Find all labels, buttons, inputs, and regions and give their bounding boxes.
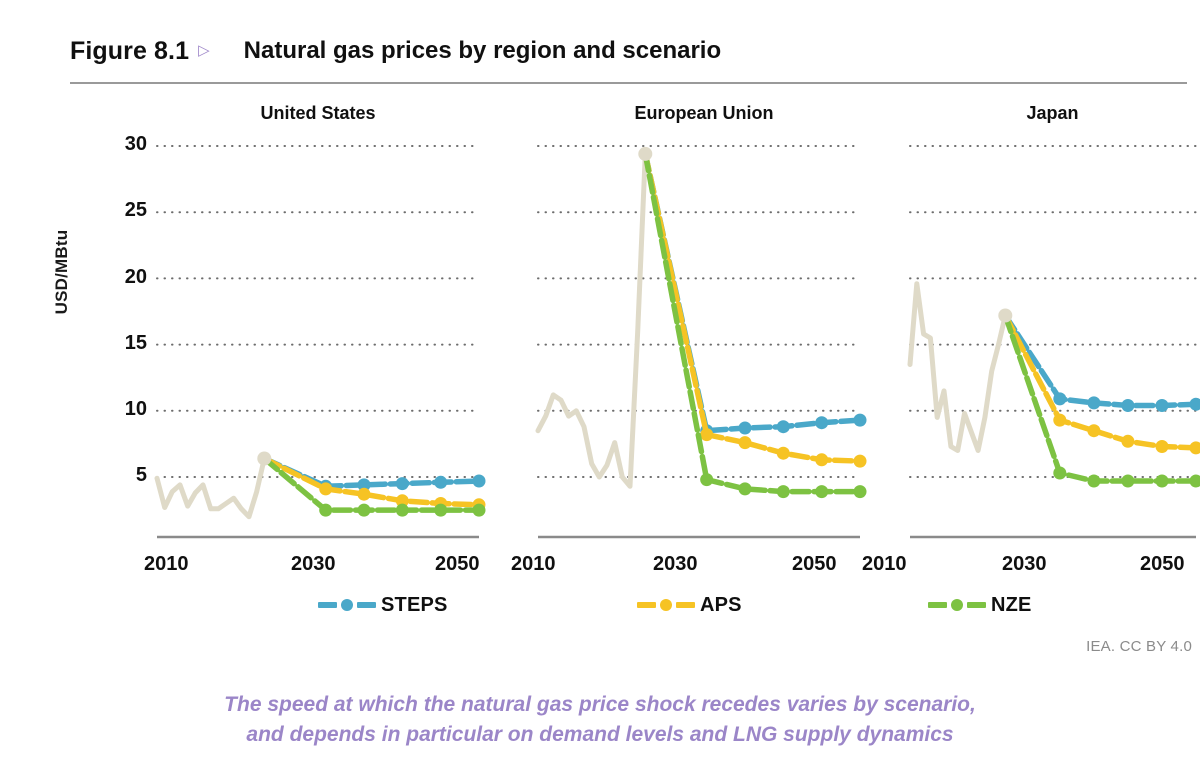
- marker-nze-2030: [319, 504, 332, 517]
- marker-steps-2040: [1121, 399, 1134, 412]
- marker-steps-2050: [1190, 398, 1200, 411]
- series-line-aps: [645, 154, 860, 461]
- caption-line-2: and depends in particular on demand leve…: [0, 720, 1200, 750]
- marker-nze-2040: [1121, 475, 1134, 488]
- marker-aps-2035: [739, 436, 752, 449]
- series-line-historical: [538, 154, 645, 486]
- marker-nze-2030: [1053, 467, 1066, 480]
- figure-caption: The speed at which the natural gas price…: [0, 690, 1200, 751]
- y-tick-15: 15: [101, 332, 147, 355]
- marker-nze-2035: [1087, 475, 1100, 488]
- y-tick-5: 5: [101, 464, 147, 487]
- y-axis-label: USD/MBtu: [52, 192, 72, 352]
- marker-nze-2035: [739, 482, 752, 495]
- marker-historical-2022: [638, 147, 652, 161]
- attribution-text: IEA. CC BY 4.0: [1086, 638, 1192, 655]
- marker-steps-2050: [473, 475, 486, 488]
- legend-swatch-nze: [928, 596, 986, 614]
- x-tick-eu-2050: 2050: [792, 553, 837, 576]
- series-line-steps: [264, 459, 479, 487]
- legend-item-nze[interactable]: NZE: [928, 590, 1032, 620]
- figure-root: Figure 8.1 ▷ Natural gas prices by regio…: [0, 0, 1200, 776]
- marker-nze-2040: [777, 485, 790, 498]
- legend-swatch-steps: [318, 596, 376, 614]
- marker-aps-2045: [1156, 440, 1169, 453]
- figure-title: Natural gas prices by region and scenari…: [244, 37, 722, 65]
- marker-steps-2045: [815, 416, 828, 429]
- marker-steps-2040: [777, 420, 790, 433]
- marker-aps-2050: [1190, 441, 1200, 454]
- panel-title-japan: Japan: [910, 103, 1195, 124]
- x-tick-us-2030: 2030: [291, 553, 336, 576]
- marker-steps-2050: [854, 414, 867, 427]
- marker-aps-2030: [319, 482, 332, 495]
- marker-steps-2030: [1053, 392, 1066, 405]
- marker-steps-2035: [1087, 396, 1100, 409]
- marker-aps-2045: [434, 497, 447, 510]
- marker-steps-2035: [358, 478, 371, 491]
- series-line-nze: [645, 154, 860, 492]
- series-line-historical: [157, 459, 264, 517]
- marker-historical-2022: [998, 309, 1012, 323]
- marker-aps-2050: [854, 455, 867, 468]
- y-tick-20: 20: [101, 266, 147, 289]
- marker-nze-2050: [473, 504, 486, 517]
- y-tick-10: 10: [101, 398, 147, 421]
- marker-nze-2045: [434, 504, 447, 517]
- marker-nze-2050: [1190, 475, 1200, 488]
- marker-aps-2030: [1053, 414, 1066, 427]
- marker-aps-2040: [1121, 435, 1134, 448]
- marker-steps-2040: [396, 477, 409, 490]
- panel-1: [157, 146, 486, 537]
- x-tick-jp-2050: 2050: [1140, 553, 1185, 576]
- panel-2: [538, 146, 867, 537]
- marker-aps-2040: [396, 494, 409, 507]
- marker-nze-2040: [396, 504, 409, 517]
- legend-label-aps: APS: [700, 594, 742, 617]
- marker-historical-2022: [257, 452, 271, 466]
- caption-line-1: The speed at which the natural gas price…: [0, 690, 1200, 720]
- legend-label-nze: NZE: [991, 594, 1032, 617]
- marker-aps-2040: [777, 447, 790, 460]
- series-line-aps: [1005, 316, 1196, 448]
- marker-aps-2030: [700, 428, 713, 441]
- legend-item-steps[interactable]: STEPS: [318, 590, 448, 620]
- marker-steps-2045: [1156, 399, 1169, 412]
- x-tick-us-2010: 2010: [144, 553, 189, 576]
- marker-nze-2045: [815, 485, 828, 498]
- y-tick-25: 25: [101, 199, 147, 222]
- triangle-right-icon: ▷: [198, 43, 210, 58]
- y-tick-30: 30: [101, 133, 147, 156]
- x-tick-eu-2030: 2030: [653, 553, 698, 576]
- series-line-nze: [1005, 316, 1196, 482]
- legend-swatch-aps: [637, 596, 695, 614]
- marker-nze-2030: [700, 473, 713, 486]
- header-divider: [70, 82, 1187, 84]
- marker-aps-2035: [1087, 424, 1100, 437]
- panel-title-united-states: United States: [157, 103, 479, 124]
- marker-steps-2035: [739, 422, 752, 435]
- legend-item-aps[interactable]: APS: [637, 590, 742, 620]
- x-tick-jp-2030: 2030: [1002, 553, 1047, 576]
- marker-aps-2045: [815, 453, 828, 466]
- x-tick-eu-2010: 2010: [511, 553, 556, 576]
- series-line-nze: [264, 459, 479, 511]
- series-line-steps: [1005, 316, 1196, 406]
- marker-steps-2030: [700, 424, 713, 437]
- marker-aps-2035: [358, 488, 371, 501]
- panel-3: [910, 146, 1200, 537]
- chart-legend: STEPS APS NZE: [0, 590, 1200, 620]
- marker-nze-2035: [358, 504, 371, 517]
- legend-label-steps: STEPS: [381, 594, 448, 617]
- marker-aps-2050: [473, 498, 486, 511]
- marker-steps-2045: [434, 476, 447, 489]
- marker-nze-2045: [1156, 475, 1169, 488]
- series-line-aps: [264, 459, 479, 505]
- marker-steps-2030: [319, 480, 332, 493]
- x-tick-jp-2010: 2010: [862, 553, 907, 576]
- figure-number: Figure 8.1: [70, 37, 189, 66]
- x-tick-us-2050: 2050: [435, 553, 480, 576]
- figure-header: Figure 8.1 ▷ Natural gas prices by regio…: [70, 26, 1185, 76]
- panel-title-european-union: European Union: [538, 103, 870, 124]
- series-line-steps: [645, 154, 860, 431]
- series-line-historical: [910, 284, 1005, 451]
- marker-nze-2050: [854, 485, 867, 498]
